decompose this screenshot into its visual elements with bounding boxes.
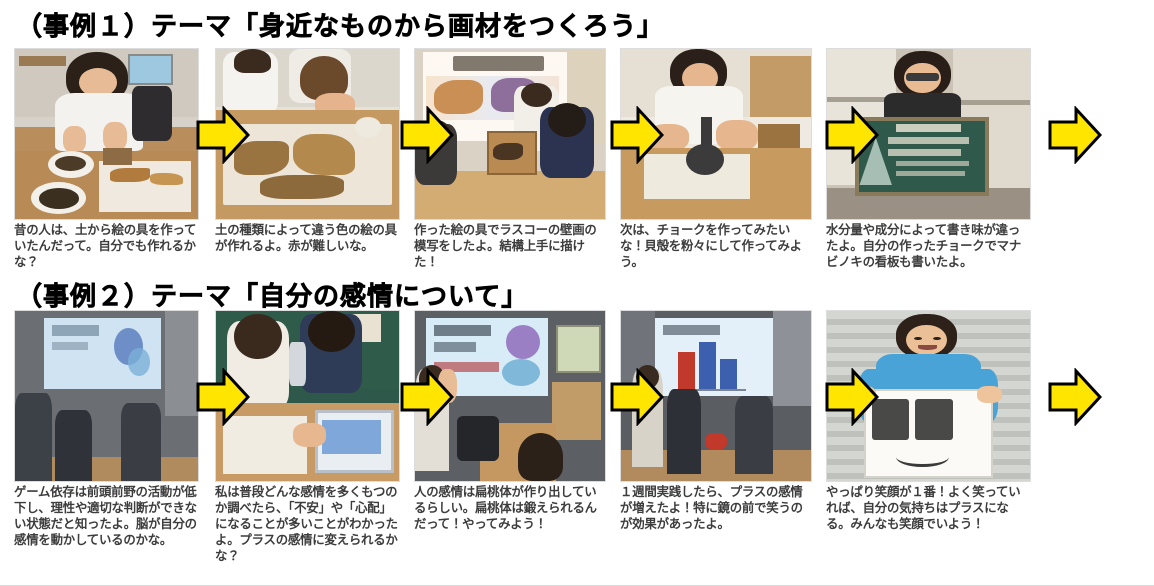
right-arrow-icon	[825, 106, 879, 164]
right-arrow-icon	[400, 106, 454, 164]
right-arrow-icon	[1048, 106, 1102, 164]
case-2-step-1: ゲーム依存は前頭前野の活動が低下し、理性や適切な判断ができない状態だと知ったよ。…	[14, 310, 199, 549]
case-2-caption-2: 私は普段どんな感情を多くもつのか調べたら、「不安」や「心配」になることが多いこと…	[215, 485, 400, 564]
right-arrow-icon	[196, 368, 250, 426]
section-title-case-1: （事例１）テーマ「身近なものから画材をつくろう」	[16, 6, 664, 43]
case-1-caption-2: 土の種類によって違う色の絵の具が作れるよ。赤が難しいな。	[215, 223, 400, 255]
slide-root: （事例１）テーマ「身近なものから画材をつくろう」 昔の人は、土から絵の具を作って…	[0, 0, 1154, 586]
case-2-caption-5: やっぱり笑顔が１番！よく笑っていれば、自分の気持ちはプラスになる。みんなも笑顔で…	[826, 485, 1031, 533]
right-arrow-icon	[196, 106, 250, 164]
photo-classroom-slide-game	[14, 310, 199, 482]
case-1-step-1: 昔の人は、土から絵の具を作っていたんだって。自分でも作れるかな？	[14, 48, 199, 271]
case-1-caption-1: 昔の人は、土から絵の具を作っていたんだって。自分でも作れるかな？	[14, 223, 199, 271]
case-2-step-row: ゲーム依存は前頭前野の活動が低下し、理性や適切な判断ができない状態だと知ったよ。…	[0, 310, 1154, 586]
case-1-caption-3: 作った絵の具でラスコーの壁画の模写をしたよ。結構上手に描けた！	[414, 223, 606, 271]
right-arrow-icon	[825, 368, 879, 426]
right-arrow-icon	[400, 368, 454, 426]
photo-sifting-soil	[14, 48, 199, 220]
case-2-step-2: 私は普段どんな感情を多くもつのか調べたら、「不安」や「心配」になることが多いこと…	[215, 310, 400, 564]
case-1-caption-4: 次は、チョークを作ってみたいな！貝殻を粉々にして作ってみよう。	[620, 223, 812, 271]
case-2-caption-1: ゲーム依存は前頭前野の活動が低下し、理性や適切な判断ができない状態だと知ったよ。…	[14, 485, 199, 549]
case-1-caption-5: 水分量や成分によって書き味が違ったよ。自分の作ったチョークでマナビノキの看板も書…	[826, 223, 1031, 271]
right-arrow-icon	[610, 106, 664, 164]
section-title-case-2: （事例２）テーマ「自分の感情について」	[16, 276, 528, 313]
case-1-step-row: 昔の人は、土から絵の具を作っていたんだって。自分でも作れるかな？ 土の種類によっ…	[0, 48, 1154, 268]
right-arrow-icon	[610, 368, 664, 426]
right-arrow-icon	[1048, 368, 1102, 426]
case-2-caption-4: １週間実践したら、プラスの感情が増えたよ！特に鏡の前で笑うのが効果があったよ。	[620, 485, 812, 533]
case-2-caption-3: 人の感情は扁桃体が作り出しているらしい。扁桃体は鍛えられるんだって！やってみよう…	[414, 485, 606, 533]
